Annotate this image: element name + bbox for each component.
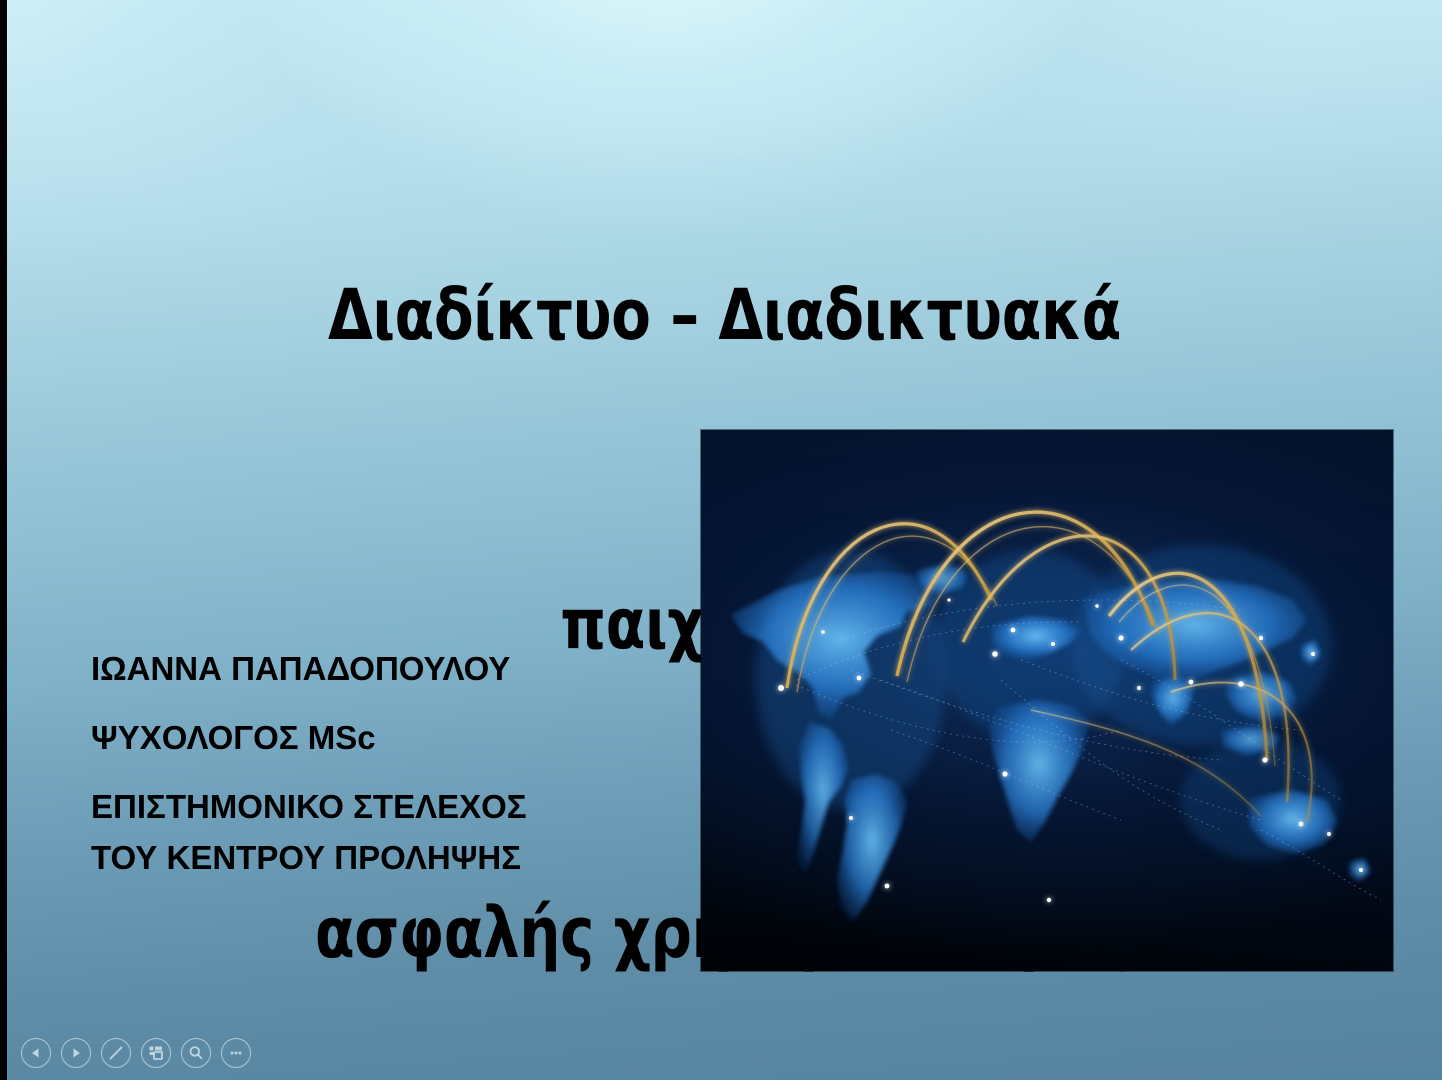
ellipsis-icon bbox=[227, 1044, 245, 1062]
magnifier-icon bbox=[187, 1044, 205, 1062]
pen-tool-button[interactable] bbox=[101, 1038, 131, 1068]
next-slide-button[interactable] bbox=[61, 1038, 91, 1068]
slide-viewer: Διαδίκτυο – Διαδικτυακά παιχνίδια: ασφαλ… bbox=[0, 0, 1442, 1080]
grid-icon bbox=[147, 1044, 165, 1062]
slide-overview-button[interactable] bbox=[141, 1038, 171, 1068]
more-options-button[interactable] bbox=[221, 1038, 251, 1068]
slideshow-toolbar bbox=[21, 1038, 251, 1068]
author-block: ΙΩΑΝΝΑ ΠΑΠΑΔΟΠΟΥΛΟΥ ΨΥΧΟΛΟΓΟΣ MSc ΕΠΙΣΤΗ… bbox=[91, 634, 691, 892]
title-line-1: Διαδίκτυο – Διαδικτυακά bbox=[64, 264, 1384, 367]
next-icon bbox=[68, 1045, 84, 1061]
slide-canvas: Διαδίκτυο – Διαδικτυακά παιχνίδια: ασφαλ… bbox=[7, 0, 1442, 1080]
author-name: ΙΩΑΝΝΑ ΠΑΠΑΔΟΠΟΥΛΟΥ bbox=[91, 634, 691, 703]
author-credential: ΨΥΧΟΛΟΓΟΣ MSc bbox=[91, 703, 691, 772]
world-network-map-image bbox=[701, 430, 1393, 971]
zoom-button[interactable] bbox=[181, 1038, 211, 1068]
pen-icon bbox=[106, 1043, 126, 1063]
world-map-graphic bbox=[701, 430, 1393, 971]
previous-icon bbox=[28, 1045, 44, 1061]
previous-slide-button[interactable] bbox=[21, 1038, 51, 1068]
author-role-line-2: ΤΟΥ ΚΕΝΤΡΟΥ ΠΡΟΛΗΨΗΣ bbox=[91, 823, 691, 892]
